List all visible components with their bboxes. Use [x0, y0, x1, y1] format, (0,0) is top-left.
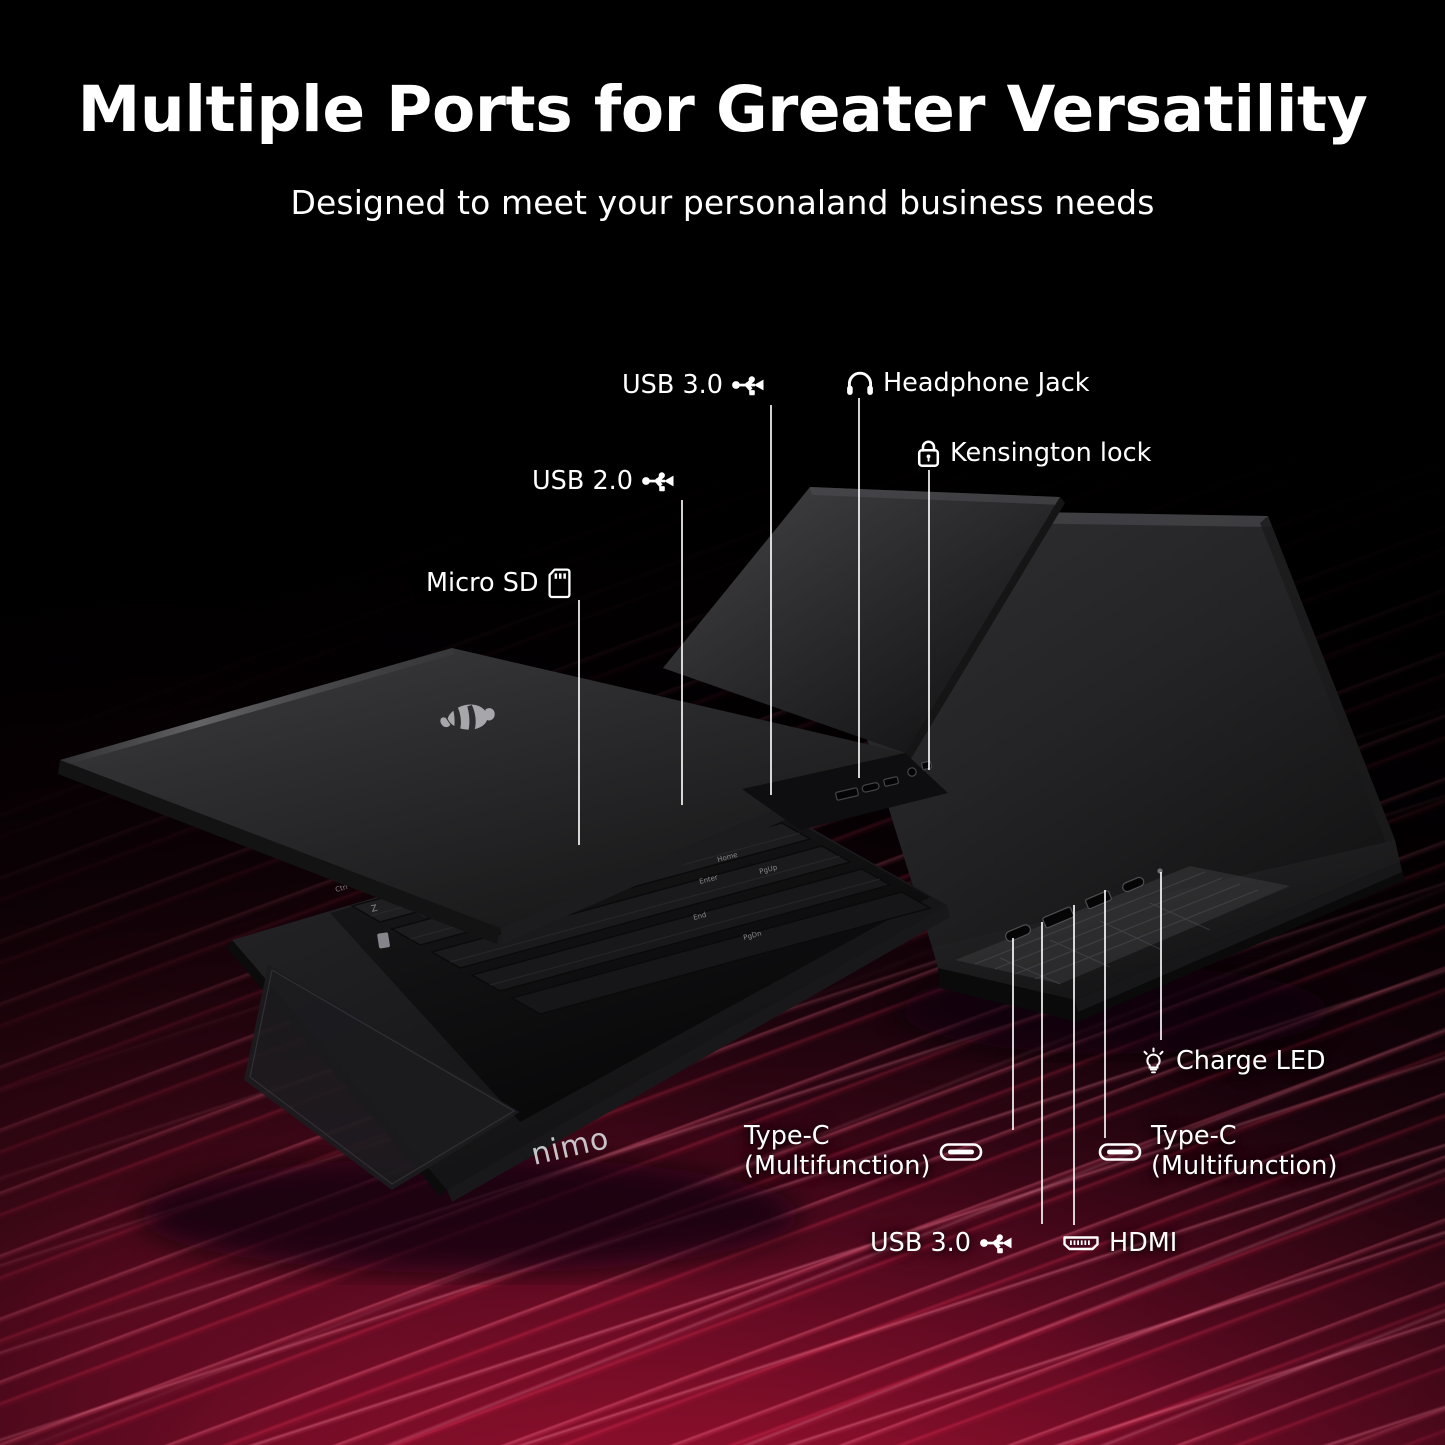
- usb-type-c-icon: [939, 1140, 983, 1164]
- callout-charge-led: Charge LED: [1140, 1046, 1326, 1077]
- leader-line-usb-2-0: [681, 500, 683, 805]
- callout-micro-sd: Micro SD: [426, 568, 571, 599]
- callout-usb-3-0-top: USB 3.0: [622, 370, 766, 401]
- usb-icon: [980, 1230, 1014, 1256]
- leader-line-headphone-jack: [858, 398, 860, 778]
- leader-line-type-c-right: [1104, 890, 1106, 1138]
- fingerprint-sensor: [377, 932, 390, 949]
- leader-line-usb-3-0-top: [770, 405, 772, 795]
- callout-usb-2-0: USB 2.0: [532, 466, 676, 497]
- usb-icon: [732, 372, 766, 398]
- callout-hdmi: HDMI: [1062, 1228, 1177, 1259]
- leader-line-type-c-left: [1012, 938, 1014, 1130]
- leader-line-charge-led: [1160, 872, 1162, 1040]
- leader-line-hdmi: [1073, 905, 1075, 1225]
- callout-label: Kensington lock: [950, 438, 1151, 469]
- microsd-card-icon: [548, 568, 571, 599]
- usb-type-c-icon: [1098, 1140, 1142, 1164]
- callout-label-line2: (Multifunction): [744, 1152, 930, 1182]
- callout-headphone-jack: Headphone Jack: [846, 368, 1090, 399]
- callout-kensington-lock: Kensington lock: [916, 438, 1151, 469]
- leader-line-kensington-lock: [928, 470, 930, 770]
- lightbulb-icon: [1140, 1047, 1167, 1076]
- callout-label-line2: (Multifunction): [1151, 1152, 1337, 1182]
- callout-usb-3-0-bottom: USB 3.0: [870, 1228, 1014, 1259]
- leader-line-micro-sd: [578, 600, 580, 845]
- headphone-icon: [846, 370, 874, 396]
- product-feature-image: Z X C V B N M H J K L O P Shift Ctrl Fn: [0, 0, 1445, 1445]
- callout-label: Headphone Jack: [883, 368, 1090, 399]
- padlock-icon: [916, 439, 941, 468]
- callout-label: USB 3.0: [622, 370, 723, 401]
- callout-label: USB 3.0: [870, 1228, 971, 1259]
- usb-icon: [642, 468, 676, 494]
- callout-label: USB 2.0: [532, 466, 633, 497]
- callout-type-c-right: Type-C (Multifunction): [1098, 1122, 1337, 1181]
- callout-label: Charge LED: [1176, 1046, 1326, 1077]
- callout-label: HDMI: [1109, 1228, 1177, 1259]
- leader-line-usb-3-0-bottom: [1041, 922, 1043, 1224]
- callout-label: Type-C: [744, 1122, 930, 1152]
- page-subtitle: Designed to meet your personaland busine…: [0, 183, 1445, 222]
- callout-type-c-left: Type-C (Multifunction): [744, 1122, 983, 1181]
- callout-label: Type-C: [1151, 1122, 1337, 1152]
- callout-label: Micro SD: [426, 568, 539, 599]
- hdmi-port-icon: [1062, 1232, 1100, 1254]
- page-title: Multiple Ports for Greater Versatility: [0, 77, 1445, 144]
